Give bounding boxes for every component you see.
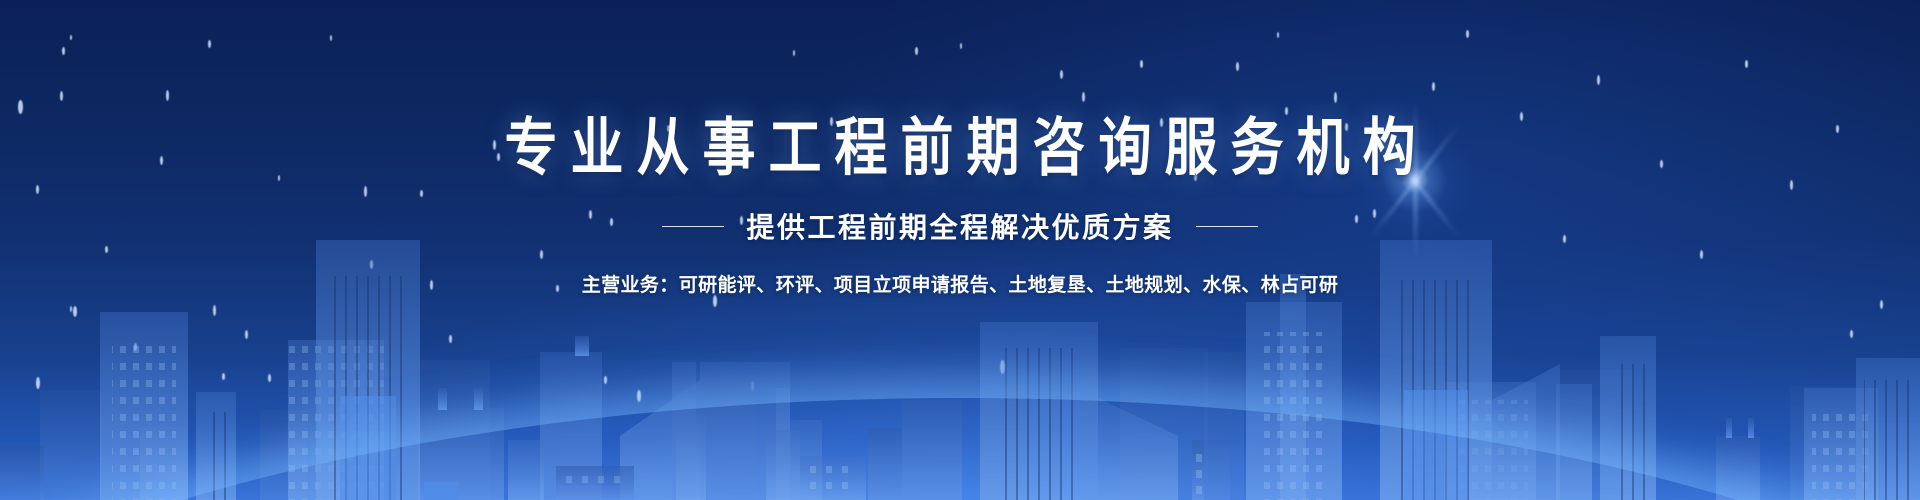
subheadline-row: 提供工程前期全程解决优质方案 bbox=[0, 206, 1920, 246]
star-particle bbox=[604, 376, 607, 384]
star-particle bbox=[1277, 32, 1279, 38]
star-particle bbox=[1466, 30, 1469, 38]
star-particle bbox=[70, 35, 72, 40]
star-particle bbox=[1432, 82, 1435, 91]
star-particle bbox=[70, 306, 72, 312]
star-particle bbox=[1140, 60, 1143, 68]
services-tagline: 主营业务：可研能评、环评、项目立项申请报告、土地复垦、土地规划、水保、林占可研 bbox=[0, 270, 1920, 297]
star-particle bbox=[1000, 360, 1005, 374]
star-particle bbox=[166, 90, 169, 101]
star-particle bbox=[213, 305, 216, 316]
star-particle bbox=[36, 377, 40, 389]
star-particle bbox=[62, 47, 65, 55]
rule-right bbox=[1196, 226, 1258, 227]
page-title: 专业从事工程前期咨询服务机构 bbox=[0, 116, 1920, 182]
banner-content: 专业从事工程前期咨询服务机构 提供工程前期全程解决优质方案 主营业务：可研能评、… bbox=[0, 116, 1920, 297]
horizon-glow-rim bbox=[0, 398, 1920, 500]
horizon-glow-arc bbox=[0, 390, 1920, 500]
star-particle bbox=[1745, 60, 1748, 68]
star-particle bbox=[134, 343, 137, 351]
star-particle bbox=[1880, 300, 1883, 309]
star-particle bbox=[245, 330, 248, 339]
star-particle bbox=[1334, 92, 1337, 103]
star-particle bbox=[449, 335, 452, 343]
star-particle bbox=[222, 373, 225, 380]
star-particle bbox=[268, 374, 271, 382]
star-particle bbox=[60, 91, 63, 101]
hero-banner: 专业从事工程前期咨询服务机构 提供工程前期全程解决优质方案 主营业务：可研能评、… bbox=[0, 0, 1920, 500]
star-particle bbox=[1850, 330, 1853, 338]
star-particle bbox=[960, 43, 962, 49]
star-particle bbox=[208, 40, 211, 48]
star-particle bbox=[1236, 62, 1239, 71]
star-particle bbox=[915, 47, 918, 55]
star-particle bbox=[1060, 70, 1063, 79]
star-particle bbox=[73, 306, 77, 317]
rule-left bbox=[662, 226, 724, 227]
subtitle: 提供工程前期全程解决优质方案 bbox=[746, 206, 1173, 246]
star-particle bbox=[751, 381, 754, 391]
star-particle bbox=[18, 100, 23, 114]
star-particle bbox=[637, 390, 641, 402]
star-particle bbox=[1597, 75, 1600, 85]
star-particle bbox=[1082, 92, 1085, 102]
star-particle bbox=[330, 35, 332, 41]
star-particle bbox=[793, 50, 795, 56]
